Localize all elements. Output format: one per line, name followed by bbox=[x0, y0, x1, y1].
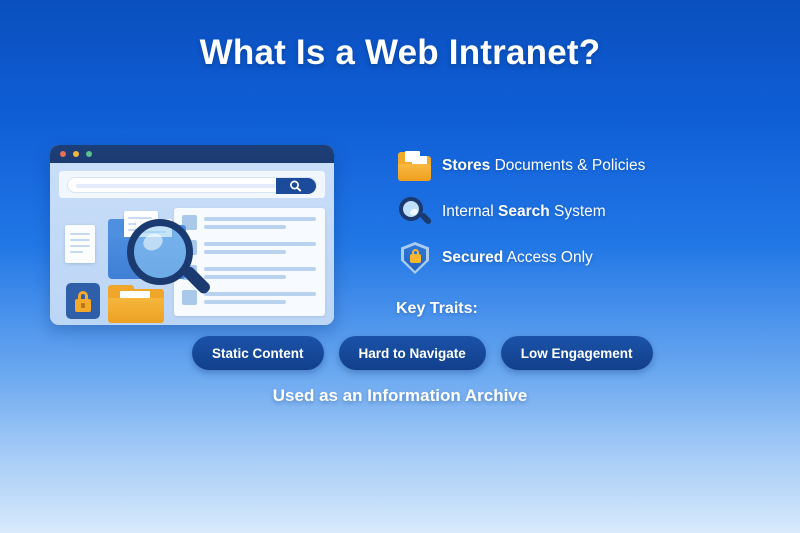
feature-row-stores: Stores Documents & Policies bbox=[396, 143, 645, 189]
feature-rest-secured: Access Only bbox=[507, 249, 593, 266]
feature-label-stores: Stores Documents & Policies bbox=[442, 157, 645, 175]
lock-badge-icon bbox=[66, 283, 100, 319]
intranet-browser-illustration bbox=[50, 145, 334, 325]
minimize-dot bbox=[73, 151, 79, 157]
feature-row-secured: Secured Access Only bbox=[396, 235, 645, 281]
list-line bbox=[204, 292, 316, 296]
key-traits-label: Key Traits: bbox=[396, 300, 478, 318]
feature-row-search: Internal Search System bbox=[396, 189, 645, 235]
feature-strong-search: Search bbox=[498, 203, 550, 220]
search-input[interactable] bbox=[67, 177, 317, 193]
feature-label-search: Internal Search System bbox=[442, 203, 606, 221]
magnifier-search-icon bbox=[396, 193, 434, 231]
document-sheet-icon bbox=[65, 225, 95, 263]
folder-documents-icon bbox=[396, 147, 434, 185]
feature-strong-secured: Secured bbox=[442, 249, 503, 266]
feature-pre-search: Internal bbox=[442, 203, 494, 220]
magnifier-icon bbox=[127, 219, 219, 311]
key-traits-pills: Static Content Hard to Navigate Low Enga… bbox=[192, 336, 653, 370]
trait-pill-static-content[interactable]: Static Content bbox=[192, 336, 324, 370]
browser-titlebar bbox=[50, 145, 334, 163]
list-line bbox=[204, 217, 316, 221]
browser-body bbox=[50, 163, 334, 325]
trait-pill-low-engagement[interactable]: Low Engagement bbox=[501, 336, 653, 370]
search-submit-button[interactable] bbox=[276, 178, 316, 194]
search-icon bbox=[288, 180, 304, 192]
footer-caption: Used as an Information Archive bbox=[0, 386, 800, 406]
feature-rest-search: System bbox=[554, 203, 606, 220]
feature-label-secured: Secured Access Only bbox=[442, 249, 593, 267]
slide-root: What Is a Web Intranet? bbox=[0, 0, 800, 533]
search-strip bbox=[59, 171, 325, 198]
close-dot bbox=[60, 151, 66, 157]
feature-strong-stores: Stores bbox=[442, 157, 490, 174]
feature-list: Stores Documents & Policies Internal Sea… bbox=[396, 143, 645, 281]
page-title: What Is a Web Intranet? bbox=[0, 33, 800, 73]
list-line bbox=[204, 242, 316, 246]
search-placeholder-line bbox=[76, 184, 276, 188]
list-line bbox=[204, 267, 316, 271]
trait-pill-hard-to-navigate[interactable]: Hard to Navigate bbox=[339, 336, 486, 370]
maximize-dot bbox=[86, 151, 92, 157]
feature-rest-stores: Documents & Policies bbox=[495, 157, 646, 174]
shield-lock-icon bbox=[396, 239, 434, 277]
